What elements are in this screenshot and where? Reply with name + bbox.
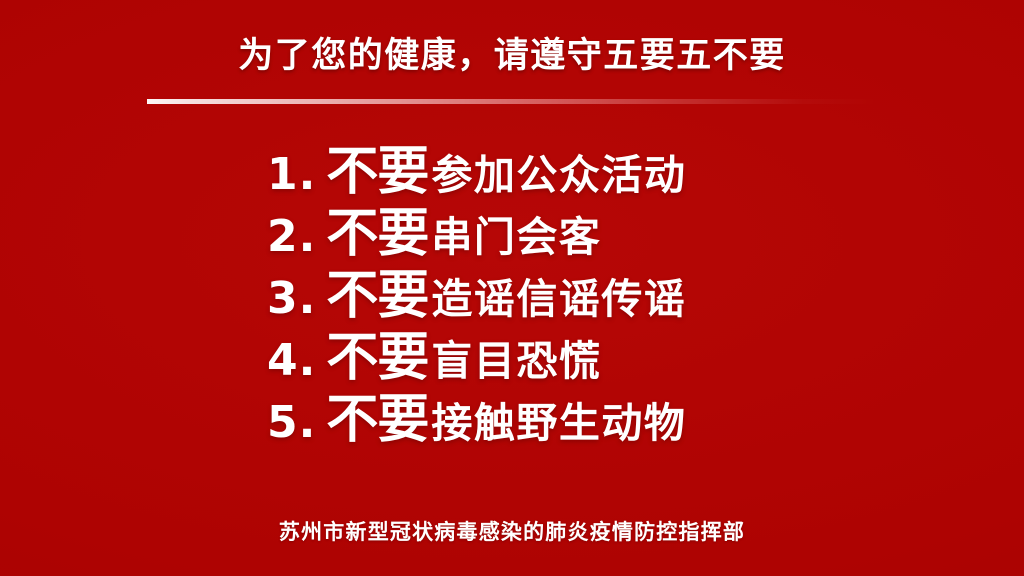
rule-index: 4. xyxy=(267,339,316,383)
rule-emphasis: 不要 xyxy=(326,208,428,260)
page-title: 为了您的健康，请遵守五要五不要 xyxy=(238,34,786,78)
list-item: 2. 不要 串门会客 xyxy=(267,208,757,270)
rule-emphasis: 不要 xyxy=(326,332,428,384)
rule-text: 盲目恐慌 xyxy=(431,341,601,382)
rule-index: 5. xyxy=(267,401,316,445)
rule-text: 串门会客 xyxy=(431,217,601,258)
list-item: 3. 不要 造谣信谣传谣 xyxy=(267,270,757,332)
rules-list: 1. 不要 参加公众活动 2. 不要 串门会客 3. 不要 造谣信谣传谣 4. … xyxy=(267,146,757,456)
rule-emphasis: 不要 xyxy=(326,146,428,198)
title-divider xyxy=(147,99,875,104)
rule-index: 2. xyxy=(267,215,316,259)
list-item: 4. 不要 盲目恐慌 xyxy=(267,332,757,394)
poster-canvas: 为了您的健康，请遵守五要五不要 1. 不要 参加公众活动 2. 不要 串门会客 … xyxy=(0,0,1024,576)
rule-text: 造谣信谣传谣 xyxy=(431,279,686,320)
rules-section: 1. 不要 参加公众活动 2. 不要 串门会客 3. 不要 造谣信谣传谣 4. … xyxy=(0,146,1024,456)
rule-text: 参加公众活动 xyxy=(431,155,686,196)
list-item: 1. 不要 参加公众活动 xyxy=(267,146,757,208)
rule-index: 1. xyxy=(267,153,316,197)
issuing-authority: 苏州市新型冠状病毒感染的肺炎疫情防控指挥部 xyxy=(279,518,745,546)
rule-emphasis: 不要 xyxy=(326,394,428,446)
title-block: 为了您的健康，请遵守五要五不要 xyxy=(0,34,1024,78)
rule-index: 3. xyxy=(267,277,316,321)
footer-block: 苏州市新型冠状病毒感染的肺炎疫情防控指挥部 xyxy=(0,518,1024,546)
rule-text: 接触野生动物 xyxy=(431,403,686,444)
rule-emphasis: 不要 xyxy=(326,270,428,322)
list-item: 5. 不要 接触野生动物 xyxy=(267,394,757,456)
